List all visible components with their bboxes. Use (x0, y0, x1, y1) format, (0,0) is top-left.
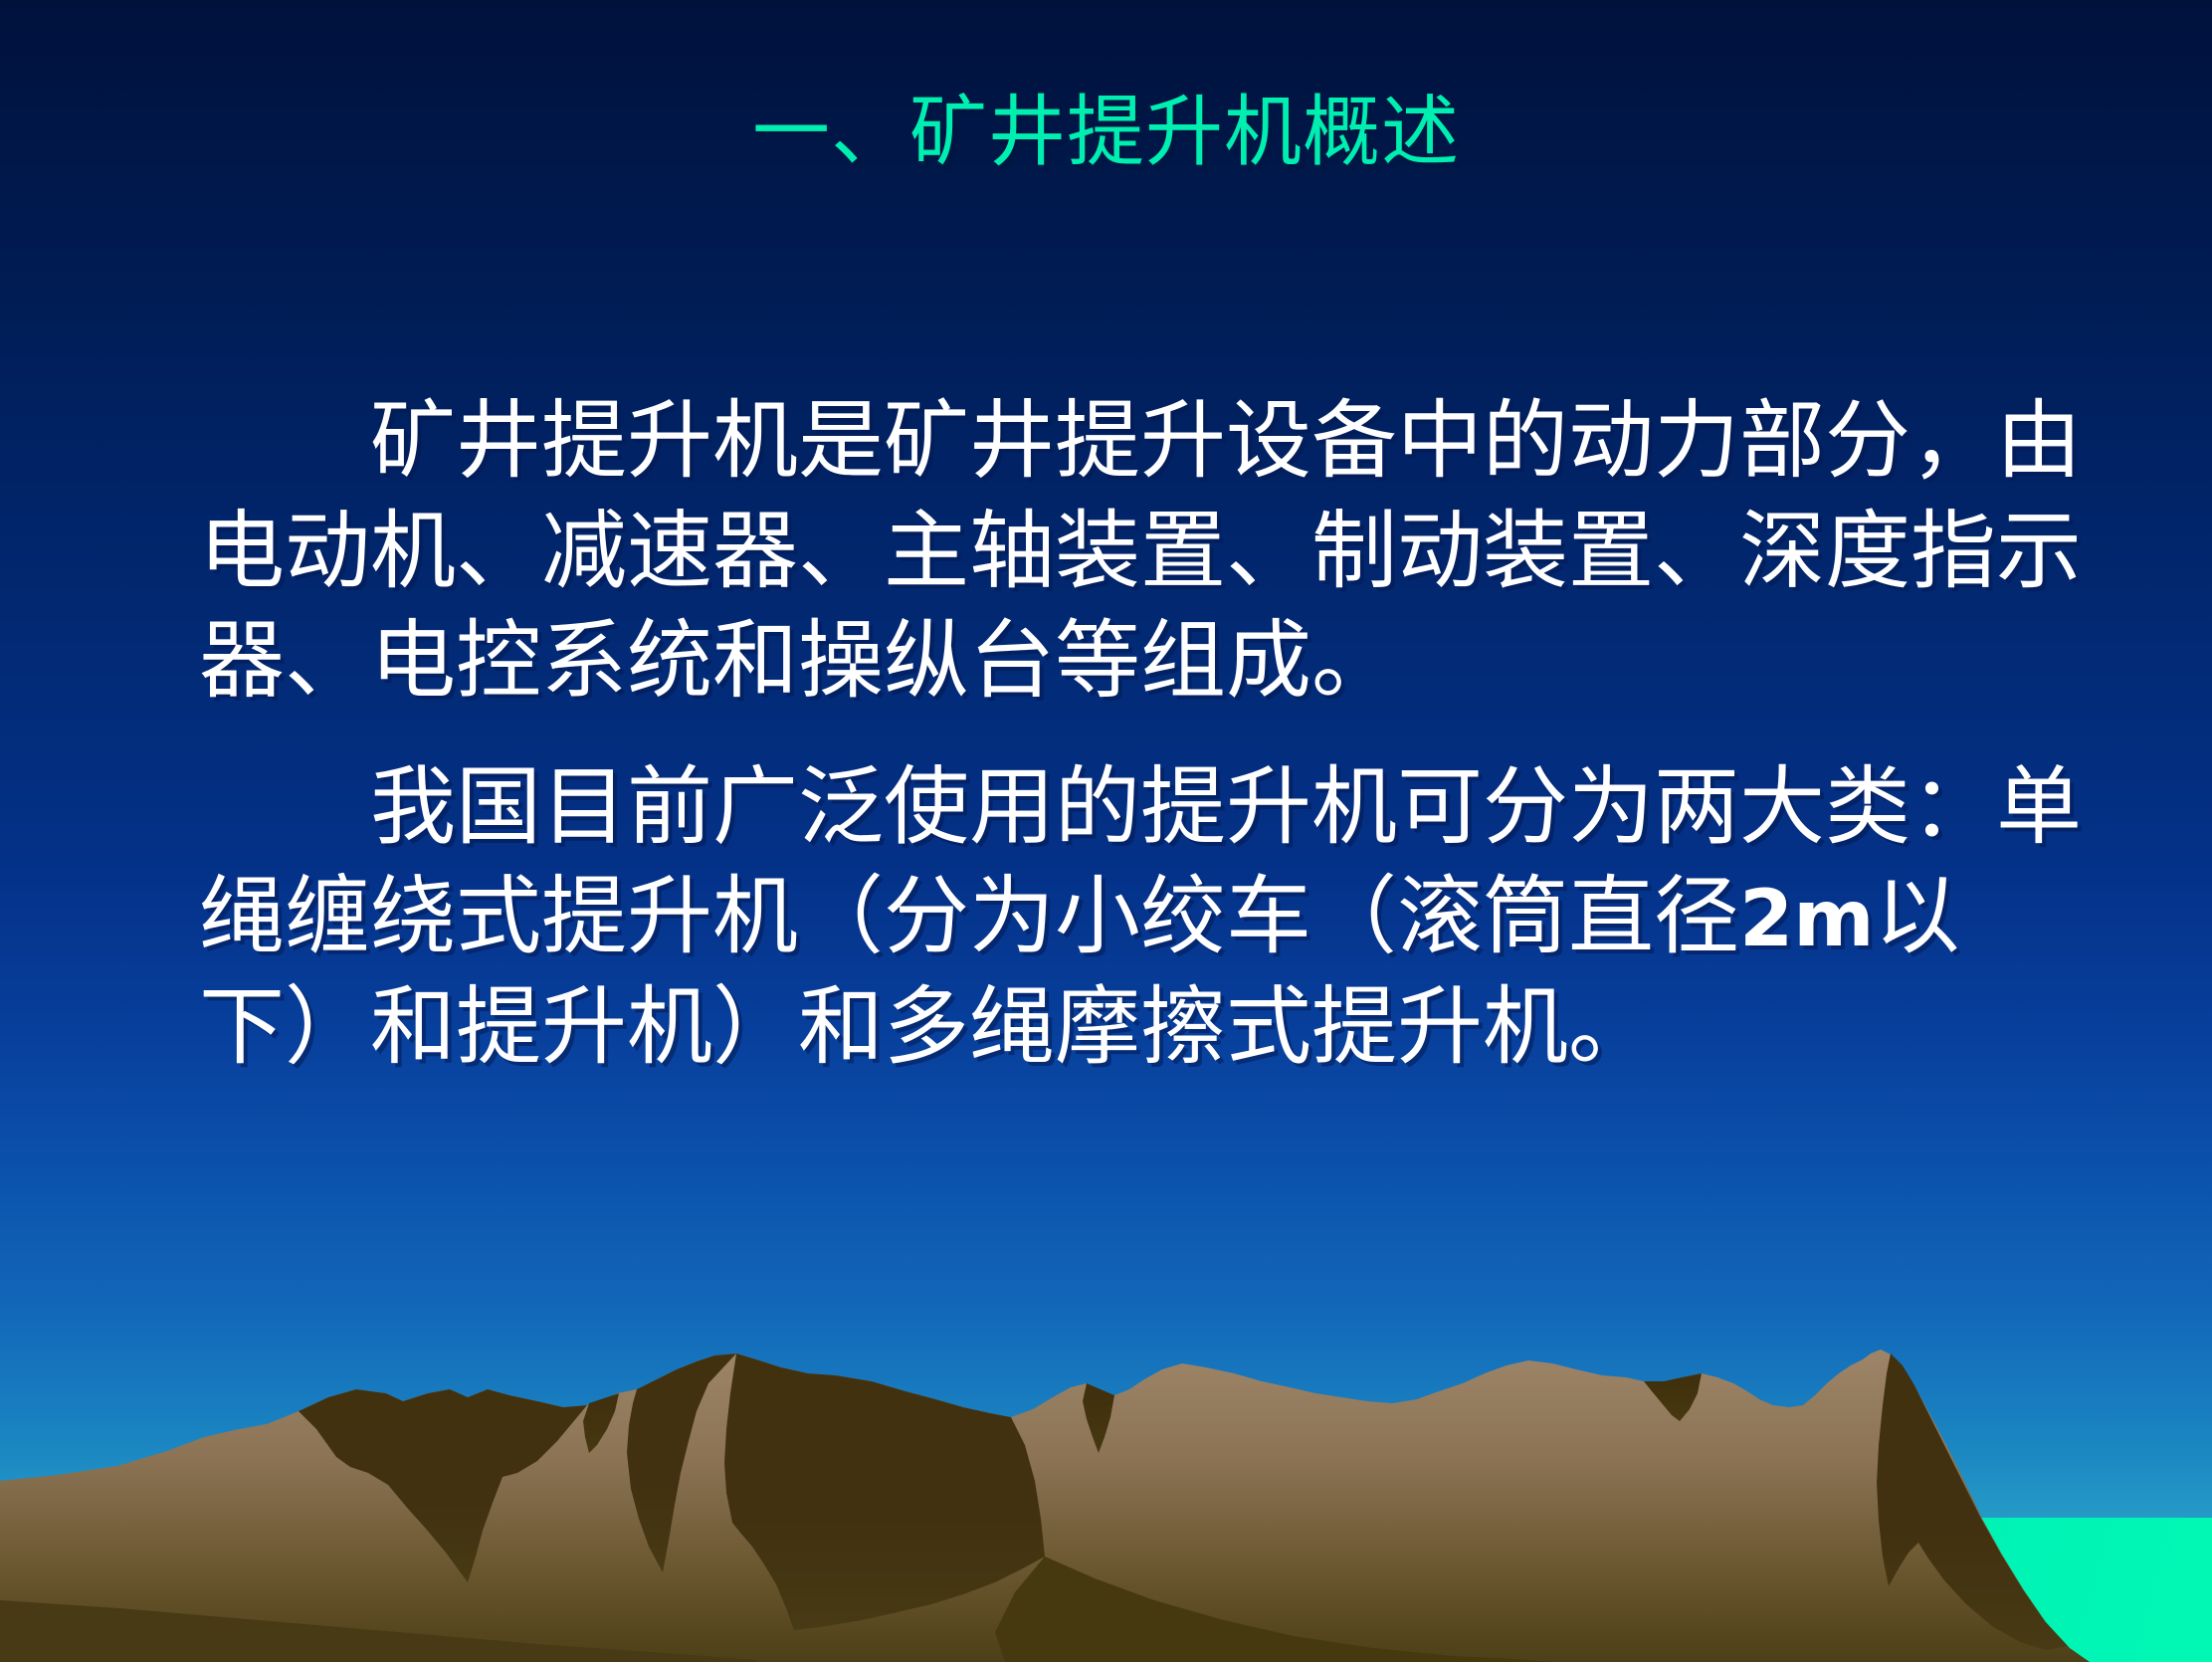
mountain-range-silhouette (0, 1334, 2212, 1662)
body-paragraph-1: 矿井提升机是矿井提升设备中的动力部分，由电动机、减速器、主轴装置、制动装置、深度… (199, 386, 2085, 717)
presentation-slide: 一、矿井提升机概述 矿井提升机是矿井提升设备中的动力部分，由电动机、减速器、主轴… (0, 0, 2212, 1662)
page-title: 一、矿井提升机概述 (752, 92, 1460, 174)
slide-title-container: 一、矿井提升机概述 (0, 92, 2212, 174)
drum-diameter-value: 2m (1739, 875, 1875, 964)
slide-body-container: 矿井提升机是矿井提升设备中的动力部分，由电动机、减速器、主轴装置、制动装置、深度… (199, 386, 2085, 1082)
body-paragraph-2: 我国目前广泛使用的提升机可分为两大类：单绳缠绕式提升机（分为小绞车（滚筒直径2m… (199, 752, 2085, 1083)
